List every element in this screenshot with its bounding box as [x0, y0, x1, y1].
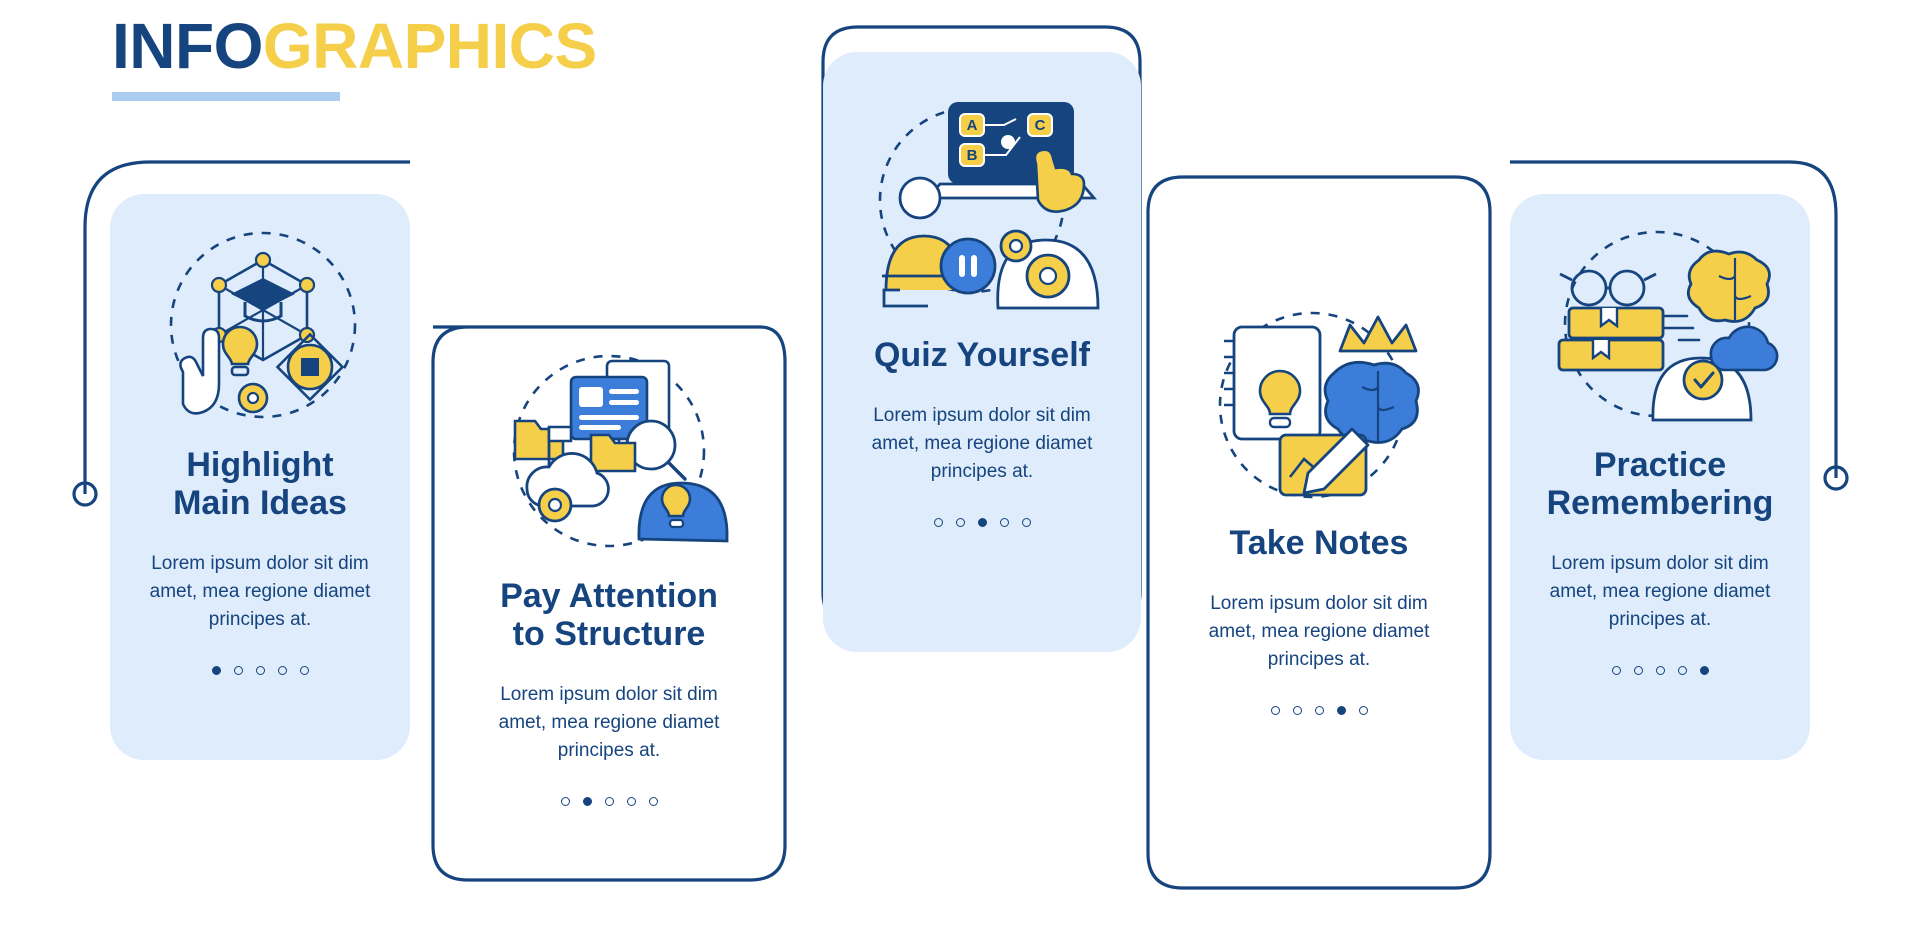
card-body: Lorem ipsum dolor sit dim amet, mea regi…: [1188, 590, 1450, 674]
progress-dot[interactable]: [1700, 666, 1709, 675]
step-progress-dots[interactable]: [1612, 666, 1709, 675]
progress-dot[interactable]: [234, 666, 243, 675]
card-heading: Practice Remembering: [1547, 446, 1774, 522]
card-heading: Highlight Main Ideas: [173, 446, 347, 522]
progress-dot[interactable]: [1634, 666, 1643, 675]
card-heading: Pay Attention to Structure: [500, 577, 718, 653]
infographic-canvas: INFOGRAPHICS: [0, 0, 1920, 937]
progress-dot[interactable]: [934, 518, 943, 527]
progress-dot[interactable]: [627, 797, 636, 806]
step-progress-dots[interactable]: [934, 518, 1031, 527]
step-card-pay-attention-to-structure[interactable]: Pay Attention to Structure Lorem ipsum d…: [433, 327, 785, 880]
step-progress-dots[interactable]: [1271, 706, 1368, 715]
progress-dot[interactable]: [1656, 666, 1665, 675]
svg-text:A: A: [967, 117, 978, 134]
progress-dot[interactable]: [1678, 666, 1687, 675]
progress-dot[interactable]: [278, 666, 287, 675]
progress-dot[interactable]: [583, 797, 592, 806]
step-progress-dots[interactable]: [561, 797, 658, 806]
title-part-graphics: GRAPHICS: [263, 10, 597, 82]
card-heading: Take Notes: [1230, 524, 1409, 562]
progress-dot[interactable]: [649, 797, 658, 806]
svg-text:C: C: [1035, 117, 1046, 134]
progress-dot[interactable]: [1293, 706, 1302, 715]
documents-cloud-idea-icon: [479, 339, 739, 569]
page-title: INFOGRAPHICS: [112, 14, 597, 101]
step-card-practice-remembering[interactable]: Practice Remembering Lorem ipsum dolor s…: [1510, 162, 1810, 760]
card-body: Lorem ipsum dolor sit dim amet, mea regi…: [1527, 550, 1793, 634]
progress-dot[interactable]: [1612, 666, 1621, 675]
progress-dot[interactable]: [605, 797, 614, 806]
progress-dot[interactable]: [1022, 518, 1031, 527]
quiz-meditation-gears-icon: A B C: [852, 80, 1112, 330]
svg-text:B: B: [967, 147, 978, 164]
progress-dot[interactable]: [300, 666, 309, 675]
progress-dot[interactable]: [956, 518, 965, 527]
card-body: Lorem ipsum dolor sit dim amet, mea regi…: [852, 402, 1112, 486]
card-body: Lorem ipsum dolor sit dim amet, mea regi…: [134, 550, 386, 634]
progress-dot[interactable]: [212, 666, 221, 675]
notebook-brain-crown-icon: [1194, 295, 1444, 510]
title-underline: [112, 92, 340, 101]
progress-dot[interactable]: [256, 666, 265, 675]
track-endpoint-left: [74, 483, 96, 505]
progress-dot[interactable]: [1337, 706, 1346, 715]
title-part-info: INFO: [112, 10, 263, 82]
step-card-quiz-yourself[interactable]: A B C: [823, 27, 1141, 627]
books-brain-head-icon: [1535, 220, 1785, 440]
progress-dot[interactable]: [1000, 518, 1009, 527]
progress-dot[interactable]: [1271, 706, 1280, 715]
step-card-take-notes[interactable]: Take Notes Lorem ipsum dolor sit dim ame…: [1148, 177, 1490, 888]
card-heading: Quiz Yourself: [874, 336, 1090, 374]
card-body: Lorem ipsum dolor sit dim amet, mea regi…: [478, 681, 740, 765]
track-endpoint-right: [1825, 467, 1847, 489]
progress-dot[interactable]: [1359, 706, 1368, 715]
title-text: INFOGRAPHICS: [112, 14, 597, 78]
progress-dot[interactable]: [1315, 706, 1324, 715]
mind-map-graduation-icon: [135, 220, 385, 440]
progress-dot[interactable]: [978, 518, 987, 527]
step-progress-dots[interactable]: [212, 666, 309, 675]
step-card-highlight-main-ideas[interactable]: Highlight Main Ideas Lorem ipsum dolor s…: [110, 162, 410, 760]
progress-dot[interactable]: [561, 797, 570, 806]
